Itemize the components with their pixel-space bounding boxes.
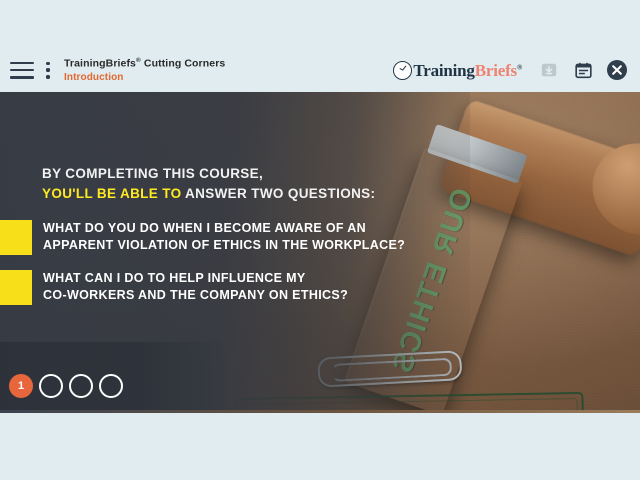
slide-bottom-edge xyxy=(0,410,640,413)
player-header: TrainingBriefs® Cutting Corners Introduc… xyxy=(0,48,640,92)
pager-dot[interactable] xyxy=(69,374,93,398)
course-title: TrainingBriefs® Cutting Corners xyxy=(64,57,225,70)
header-left-group: TrainingBriefs® Cutting Corners Introduc… xyxy=(0,57,225,82)
objective-text: WHAT CAN I DO TO HELP INFLUENCE MY CO-WO… xyxy=(43,270,348,305)
hamburger-menu-icon[interactable] xyxy=(10,62,34,79)
pager-dot[interactable] xyxy=(39,374,63,398)
slide-lead-text: BY COMPLETING THIS COURSE, YOU'LL BE ABL… xyxy=(42,164,442,203)
course-title-text: TrainingBriefs xyxy=(64,58,136,70)
slide-pager: 1 xyxy=(9,374,123,398)
lead-rest: ANSWER TWO QUESTIONS: xyxy=(181,186,375,201)
logo-word-briefs: Briefs xyxy=(475,61,517,80)
objective-swatch xyxy=(0,270,32,305)
logo-wordmark: TrainingBriefs® xyxy=(413,62,522,79)
header-titles: TrainingBriefs® Cutting Corners Introduc… xyxy=(64,57,225,82)
objective-1-line-1: WHAT DO YOU DO WHEN I BECOME AWARE OF AN xyxy=(43,220,405,237)
objective-text: WHAT DO YOU DO WHEN I BECOME AWARE OF AN… xyxy=(43,220,405,255)
objective-1-line-2: APPARENT VIOLATION OF ETHICS IN THE WORK… xyxy=(43,237,405,254)
pager-dot[interactable] xyxy=(99,374,123,398)
objective-2-line-2: CO-WORKERS AND THE COMPANY ON ETHICS? xyxy=(43,287,348,304)
trainingbriefs-logo: TrainingBriefs® xyxy=(393,61,522,80)
notes-icon[interactable] xyxy=(572,59,594,81)
objective-2-line-1: WHAT CAN I DO TO HELP INFLUENCE MY xyxy=(43,270,348,287)
objective-item-1: WHAT DO YOU DO WHEN I BECOME AWARE OF AN… xyxy=(0,220,405,255)
lead-line-2: YOU'LL BE ABLE TO ANSWER TWO QUESTIONS: xyxy=(42,184,442,204)
close-icon[interactable] xyxy=(606,59,628,81)
download-icon[interactable] xyxy=(538,59,560,81)
lead-line-1: BY COMPLETING THIS COURSE, xyxy=(42,164,442,184)
objective-item-2: WHAT CAN I DO TO HELP INFLUENCE MY CO-WO… xyxy=(0,270,348,305)
course-title-suffix: Cutting Corners xyxy=(141,58,225,70)
lead-highlight: YOU'LL BE ABLE TO xyxy=(42,186,181,201)
objective-swatch xyxy=(0,220,32,255)
section-label: Introduction xyxy=(64,72,225,83)
logo-registered-mark: ® xyxy=(517,63,522,71)
pager-dot[interactable]: 1 xyxy=(9,374,33,398)
more-options-icon[interactable] xyxy=(42,62,54,79)
clock-icon xyxy=(393,61,412,80)
course-player-window: TrainingBriefs® Cutting Corners Introduc… xyxy=(0,0,640,480)
header-right-group: TrainingBriefs® xyxy=(393,59,640,81)
slide-canvas: OUR ETHICS OUR ETHICS BY COMPLETING THIS… xyxy=(0,92,640,412)
logo-word-training: Training xyxy=(413,61,474,80)
